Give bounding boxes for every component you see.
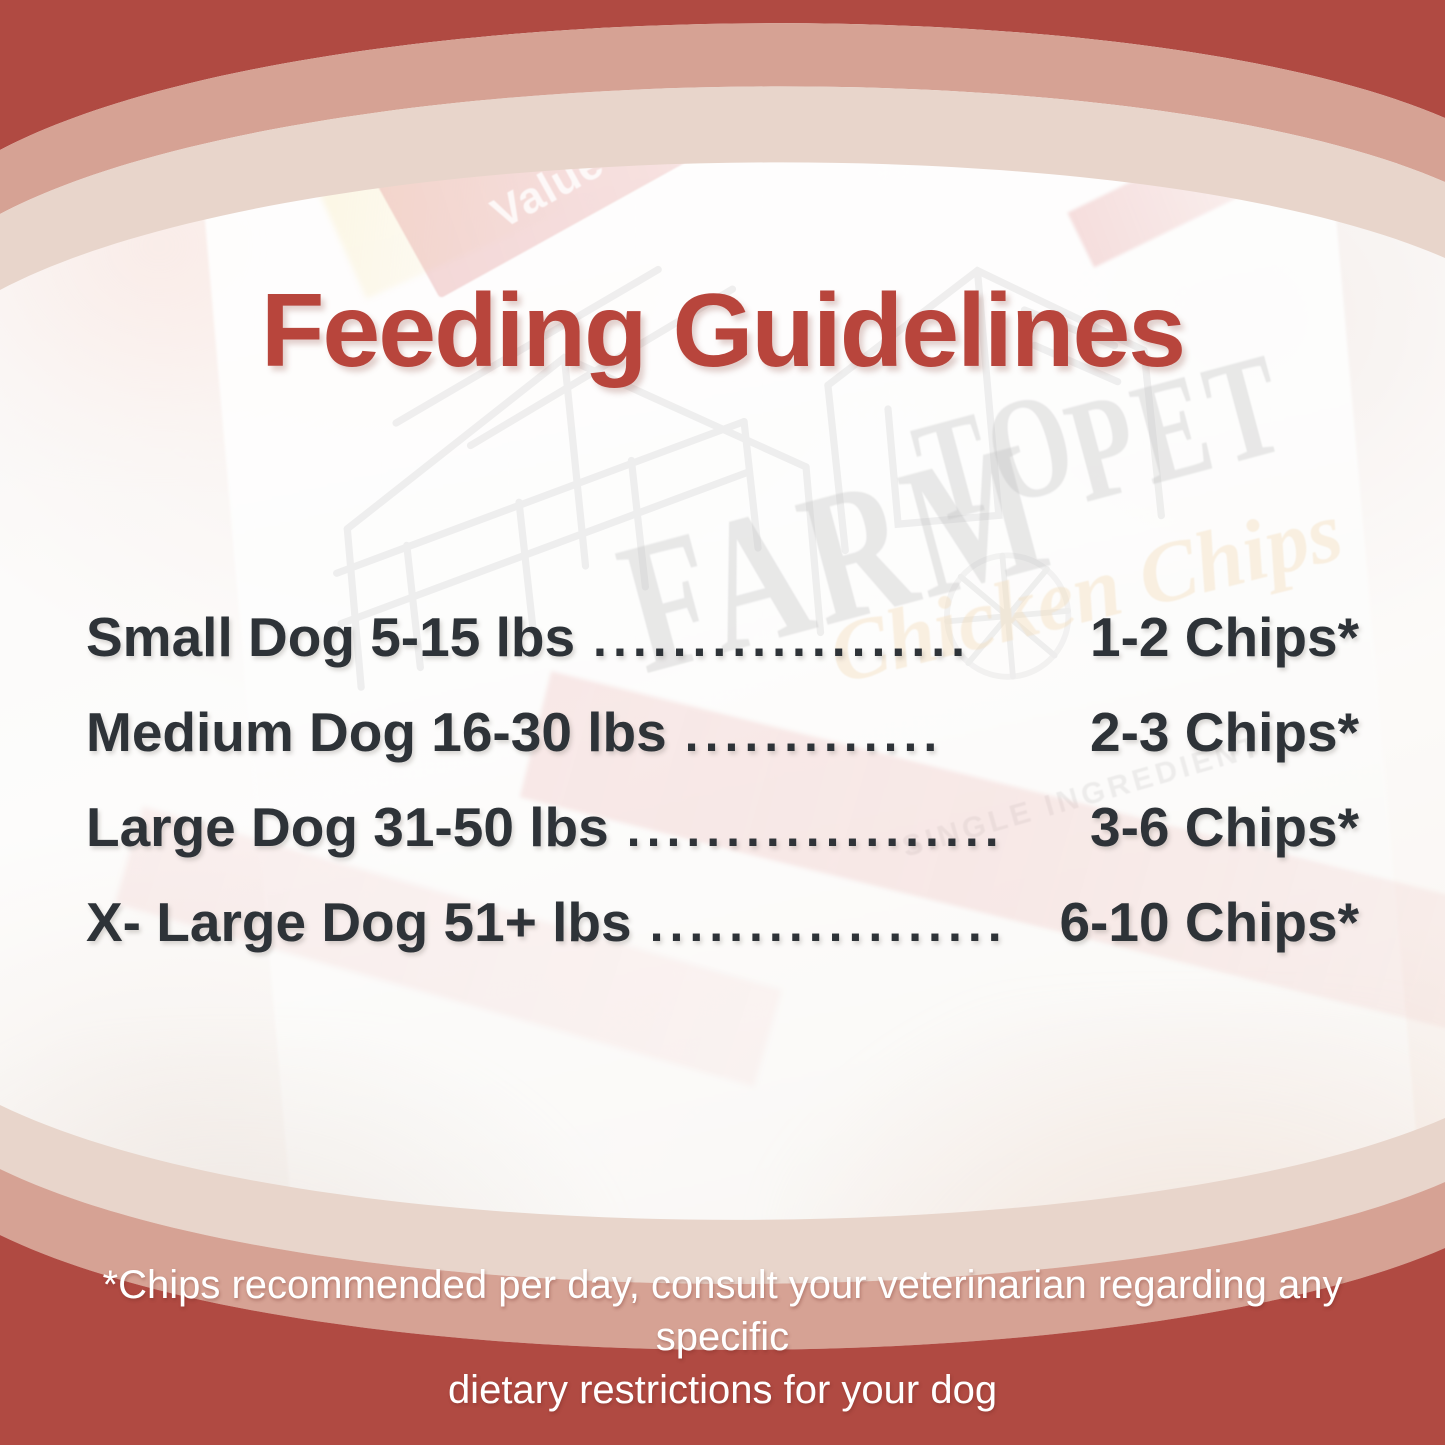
row-leader: ................... xyxy=(593,614,1072,664)
row-leader: ............. xyxy=(685,709,1072,759)
card-content: Feeding Guidelines Small Dog 5-15 lbs ..… xyxy=(0,0,1445,1445)
table-row: Large Dog 31-50 lbs ................... … xyxy=(86,800,1359,895)
row-label: Medium Dog 16-30 lbs xyxy=(86,705,667,760)
footnote: *Chips recommended per day, consult your… xyxy=(60,1259,1385,1417)
row-amount: 1-2 Chips* xyxy=(1090,610,1359,665)
row-amount: 3-6 Chips* xyxy=(1090,800,1359,855)
row-label: X- Large Dog 51+ lbs xyxy=(86,895,632,950)
table-row: Small Dog 5-15 lbs ................... 1… xyxy=(86,610,1359,705)
row-label: Large Dog 31-50 lbs xyxy=(86,800,609,855)
footnote-line-2: dietary restrictions for your dog xyxy=(60,1364,1385,1417)
table-row: X- Large Dog 51+ lbs .................. … xyxy=(86,895,1359,990)
row-label: Small Dog 5-15 lbs xyxy=(86,610,575,665)
feeding-table: Small Dog 5-15 lbs ................... 1… xyxy=(86,610,1359,990)
footnote-line-1: *Chips recommended per day, consult your… xyxy=(60,1259,1385,1365)
row-leader: .................. xyxy=(650,899,1042,949)
table-row: Medium Dog 16-30 lbs ............. 2-3 C… xyxy=(86,705,1359,800)
row-amount: 2-3 Chips* xyxy=(1090,705,1359,760)
feeding-guidelines-card: NEW Value Bag xyxy=(0,0,1445,1445)
row-amount: 6-10 Chips* xyxy=(1059,895,1359,950)
row-leader: ................... xyxy=(627,804,1072,854)
page-title: Feeding Guidelines xyxy=(0,279,1445,383)
